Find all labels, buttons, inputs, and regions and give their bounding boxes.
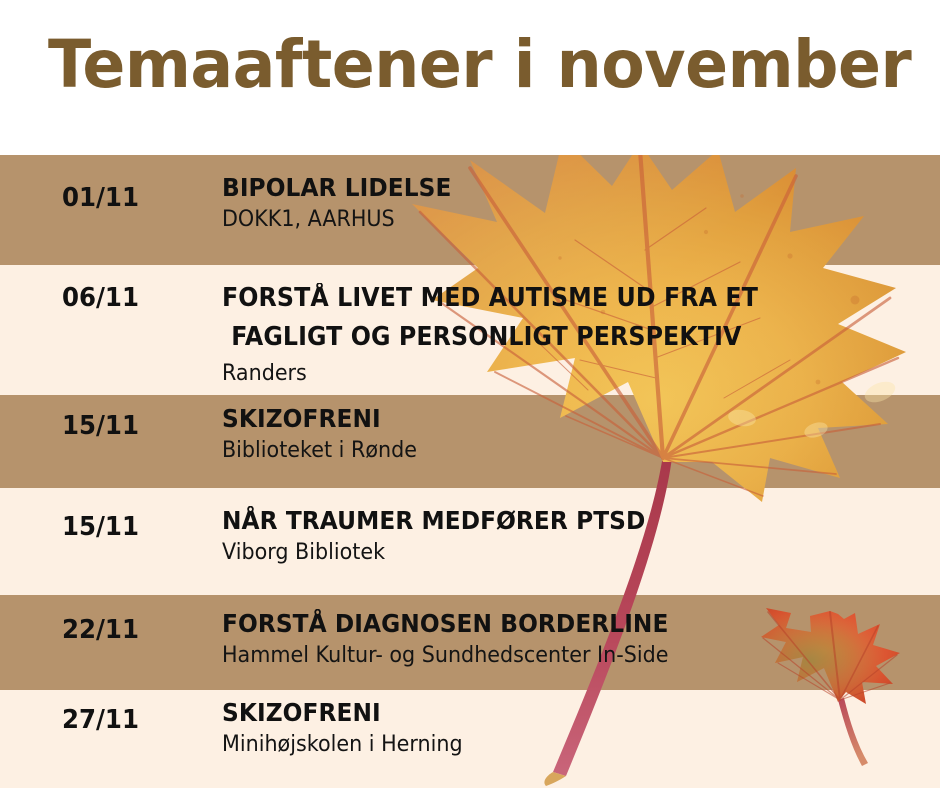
event-title-line: SKIZOFRENI: [222, 403, 880, 434]
event-venue: Minihøjskolen i Herning: [222, 731, 888, 758]
event-body: SKIZOFRENIBiblioteket i Rønde: [222, 403, 930, 464]
event-date: 06/11: [62, 283, 139, 313]
event-title-line: FORSTÅ DIAGNOSEN BORDERLINE: [222, 608, 880, 639]
event-title-line: BIPOLAR LIDELSE: [222, 172, 880, 203]
event-date: 22/11: [62, 615, 139, 645]
event-venue: Viborg Bibliotek: [222, 539, 888, 566]
event-title-line: FAGLIGT OG PERSONLIGT PERSPEKTIV: [231, 318, 880, 357]
event-venue: Hammel Kultur- og Sundhedscenter In-Side: [222, 642, 888, 669]
event-title: FORSTÅ DIAGNOSEN BORDERLINE: [222, 608, 880, 639]
event-title-line: NÅR TRAUMER MEDFØRER PTSD: [222, 505, 880, 536]
event-body: BIPOLAR LIDELSEDOKK1, AARHUS: [222, 172, 930, 233]
event-body: NÅR TRAUMER MEDFØRER PTSDViborg Bibliote…: [222, 505, 930, 566]
event-venue: Biblioteket i Rønde: [222, 437, 888, 464]
event-title-line: SKIZOFRENI: [222, 697, 880, 728]
event-title: NÅR TRAUMER MEDFØRER PTSD: [222, 505, 880, 536]
event-venue: Randers: [222, 360, 888, 387]
event-body: SKIZOFRENIMinihøjskolen i Herning: [222, 697, 930, 758]
event-title: FORSTÅ LIVET MED AUTISME UD FRA ETFAGLIG…: [222, 279, 880, 357]
event-body: FORSTÅ DIAGNOSEN BORDERLINEHammel Kultur…: [222, 608, 930, 669]
event-date: 15/11: [62, 411, 139, 441]
event-title-line: FORSTÅ LIVET MED AUTISME UD FRA ET: [222, 279, 880, 318]
event-title: SKIZOFRENI: [222, 403, 880, 434]
event-date: 15/11: [62, 512, 139, 542]
event-date: 27/11: [62, 705, 139, 735]
event-title: BIPOLAR LIDELSE: [222, 172, 880, 203]
event-venue: DOKK1, AARHUS: [222, 206, 888, 233]
header-band: Temaaftener i november: [0, 0, 940, 155]
poster-canvas: Temaaftener i november 01/11BIPOLAR LIDE…: [0, 0, 940, 788]
event-date: 01/11: [62, 183, 139, 213]
page-title: Temaaftener i november: [48, 26, 911, 103]
event-title: SKIZOFRENI: [222, 697, 880, 728]
event-body: FORSTÅ LIVET MED AUTISME UD FRA ETFAGLIG…: [222, 279, 930, 387]
